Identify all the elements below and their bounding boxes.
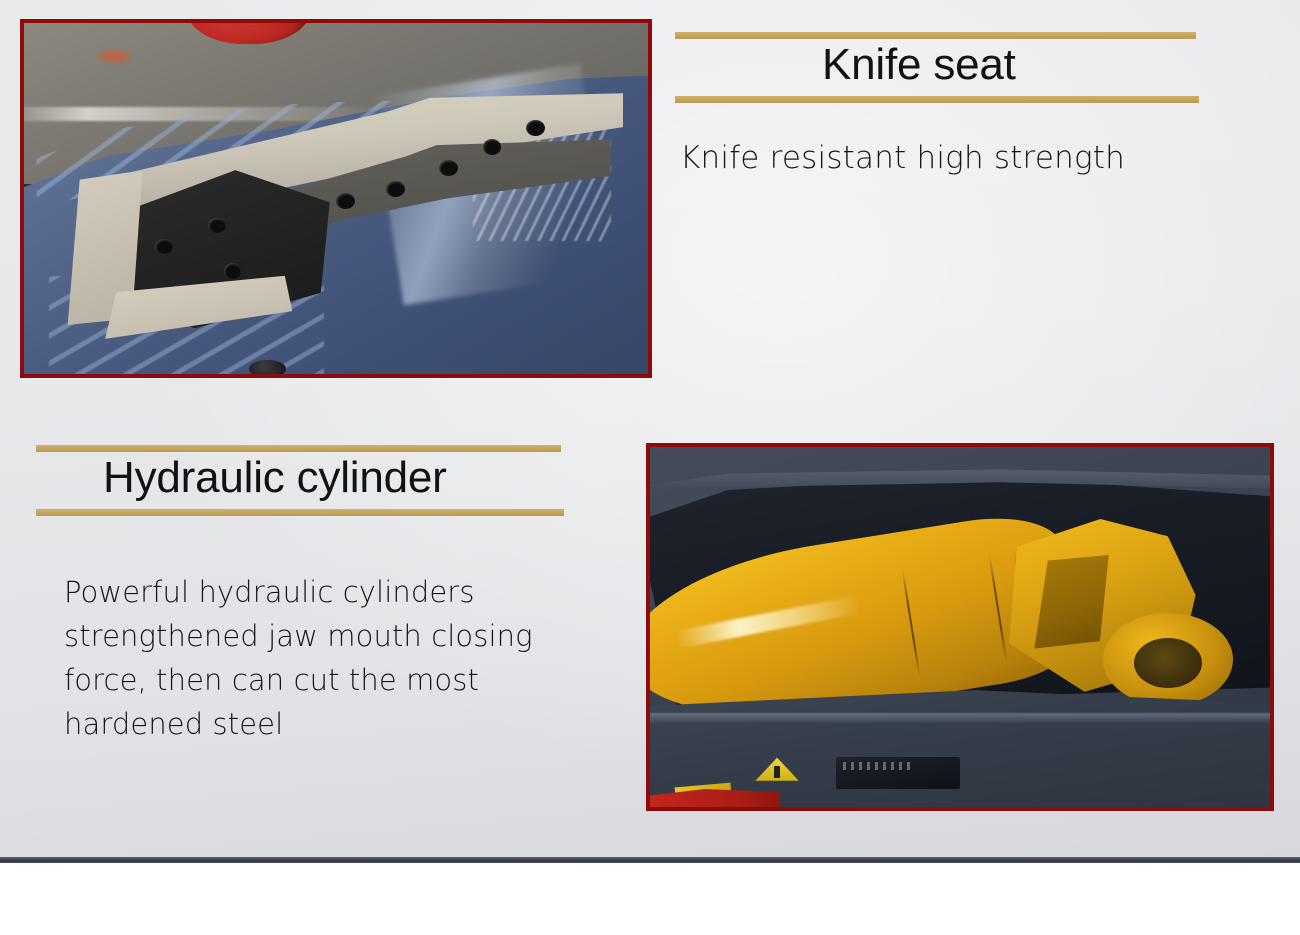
black-component (836, 757, 960, 789)
seat-bolt-hole (208, 218, 225, 233)
lower-bolt (249, 360, 286, 374)
hydraulic-cylinder-heading: Hydraulic cylinder (103, 453, 447, 503)
knife-seat-subtext: Knife resistant high strength (680, 140, 1125, 176)
hydraulic-cylinder-rule-top (36, 445, 561, 452)
blade-hole (483, 139, 502, 155)
page-root: Knife seat Knife resistant high strength… (0, 0, 1300, 935)
blade-hole (526, 120, 545, 136)
hydraulic-cylinder-photo-content (650, 447, 1270, 807)
seat-bolt-hole (155, 239, 172, 254)
body-line: hardened steel (64, 702, 664, 746)
knife-seat-photo (20, 19, 652, 378)
housing-panel-edge (650, 713, 1270, 724)
knife-seat-heading: Knife seat (822, 40, 1016, 90)
knife-seat-photo-content (24, 23, 648, 374)
cylinder-pivot-bore (1134, 638, 1202, 688)
blade-hole (336, 193, 355, 209)
body-line: strengthened jaw mouth closing (64, 614, 664, 658)
blade-hole (439, 160, 458, 176)
body-line: force, then can cut the most (64, 658, 664, 702)
below-divider-area (0, 863, 1300, 935)
knife-seat-rule-top (675, 32, 1196, 39)
hydraulic-cylinder-rule-bottom (36, 509, 564, 516)
seat-bolt-hole (224, 263, 241, 278)
orange-spot (99, 51, 130, 62)
hydraulic-cylinder-body: Powerful hydraulic cylinders strengthene… (64, 570, 664, 746)
hydraulic-cylinder-photo (646, 443, 1274, 811)
housing-front-panel (650, 685, 1270, 807)
knife-seat-rule-bottom (675, 96, 1199, 103)
body-line: Powerful hydraulic cylinders (64, 570, 664, 614)
blade-hole (386, 181, 405, 197)
